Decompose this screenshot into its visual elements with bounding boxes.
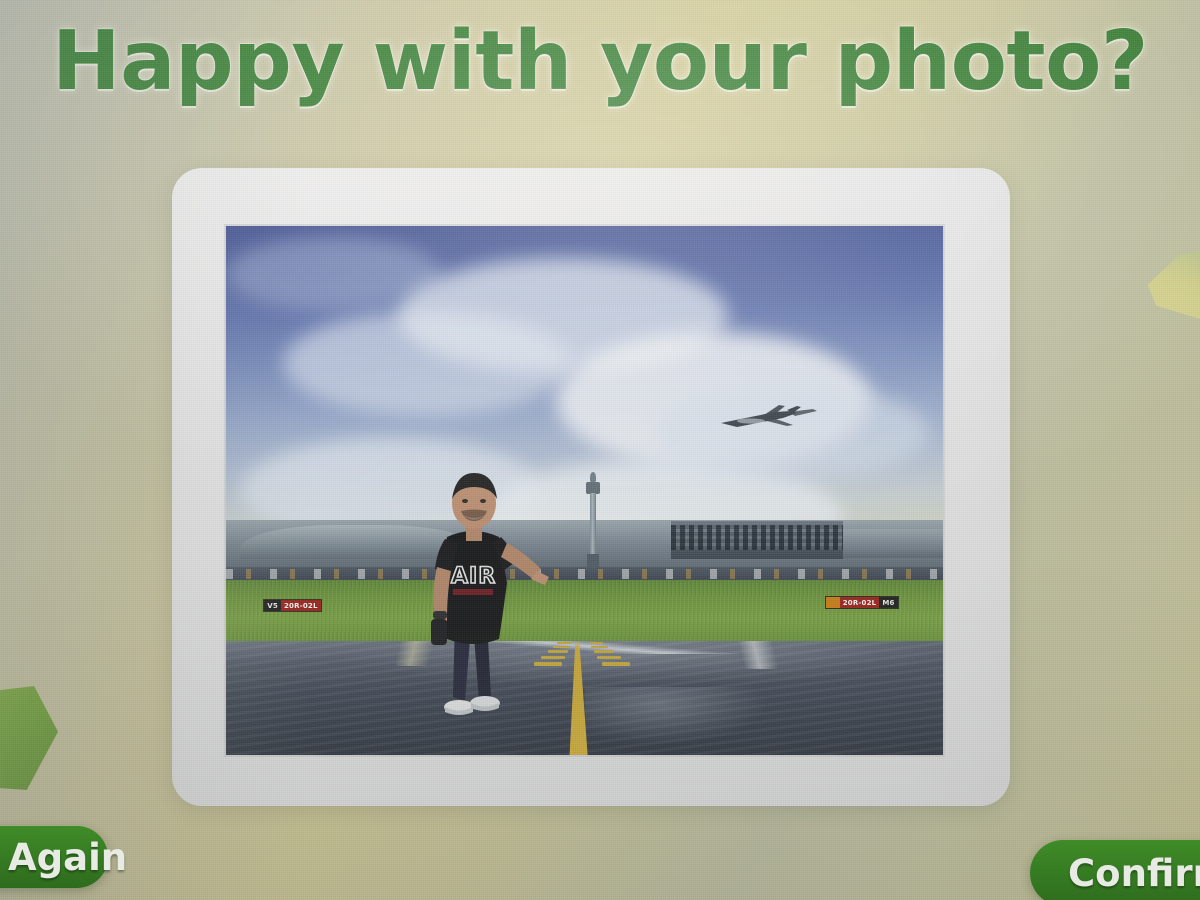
sign-segment-runway: 20R-02L bbox=[281, 600, 321, 611]
terminal-windows bbox=[671, 525, 843, 549]
tower-antenna bbox=[590, 472, 596, 482]
svg-text:AIR: AIR bbox=[451, 564, 496, 589]
runway-dash-mark bbox=[589, 642, 603, 644]
person-in-photo: AIR bbox=[409, 451, 549, 741]
grass-texture bbox=[226, 580, 943, 643]
tarmac-layer bbox=[226, 641, 943, 755]
airplane-icon bbox=[717, 403, 823, 437]
photo-scene: V5 20R-02L 20R-02L M6 bbox=[226, 226, 943, 755]
tower-base bbox=[587, 554, 599, 567]
runway-dash-mark bbox=[602, 662, 630, 666]
again-button-label: Again bbox=[8, 836, 127, 879]
control-tower-icon bbox=[586, 472, 600, 567]
photo-preview-card: V5 20R-02L 20R-02L M6 bbox=[172, 168, 1010, 806]
runway-dash-mark bbox=[557, 642, 571, 644]
sign-segment-orange bbox=[826, 597, 840, 608]
sign-segment-designator: V5 bbox=[264, 600, 281, 611]
kiosk-screen: Happy with your photo? bbox=[0, 0, 1200, 900]
page-title: Happy with your photo? bbox=[0, 14, 1200, 109]
runway-sign-left: V5 20R-02L bbox=[263, 599, 321, 612]
photo-frame: V5 20R-02L 20R-02L M6 bbox=[224, 224, 945, 757]
runway-dash-mark bbox=[591, 646, 608, 648]
confirm-button[interactable]: Confirm bbox=[1030, 840, 1200, 900]
confirm-button-label: Confirm bbox=[1068, 852, 1200, 895]
sign-segment-runway: 20R-02L bbox=[840, 597, 880, 608]
runway-sign-right: 20R-02L M6 bbox=[825, 596, 899, 609]
runway-dash-mark bbox=[553, 646, 570, 648]
runway-dash-mark bbox=[548, 650, 568, 653]
runway-dash-mark bbox=[594, 650, 614, 653]
decorative-petal-shape-right bbox=[1146, 248, 1200, 328]
terminal-building-far-right bbox=[843, 529, 943, 559]
wet-tarmac-patch bbox=[585, 687, 771, 746]
again-button[interactable]: Again bbox=[0, 826, 108, 888]
sign-segment-taxiway: M6 bbox=[879, 597, 897, 608]
grass-layer bbox=[226, 580, 943, 643]
decorative-leaf-shape-left bbox=[0, 686, 58, 790]
apron-vehicles bbox=[226, 569, 943, 580]
runway-dash-mark bbox=[597, 656, 621, 659]
